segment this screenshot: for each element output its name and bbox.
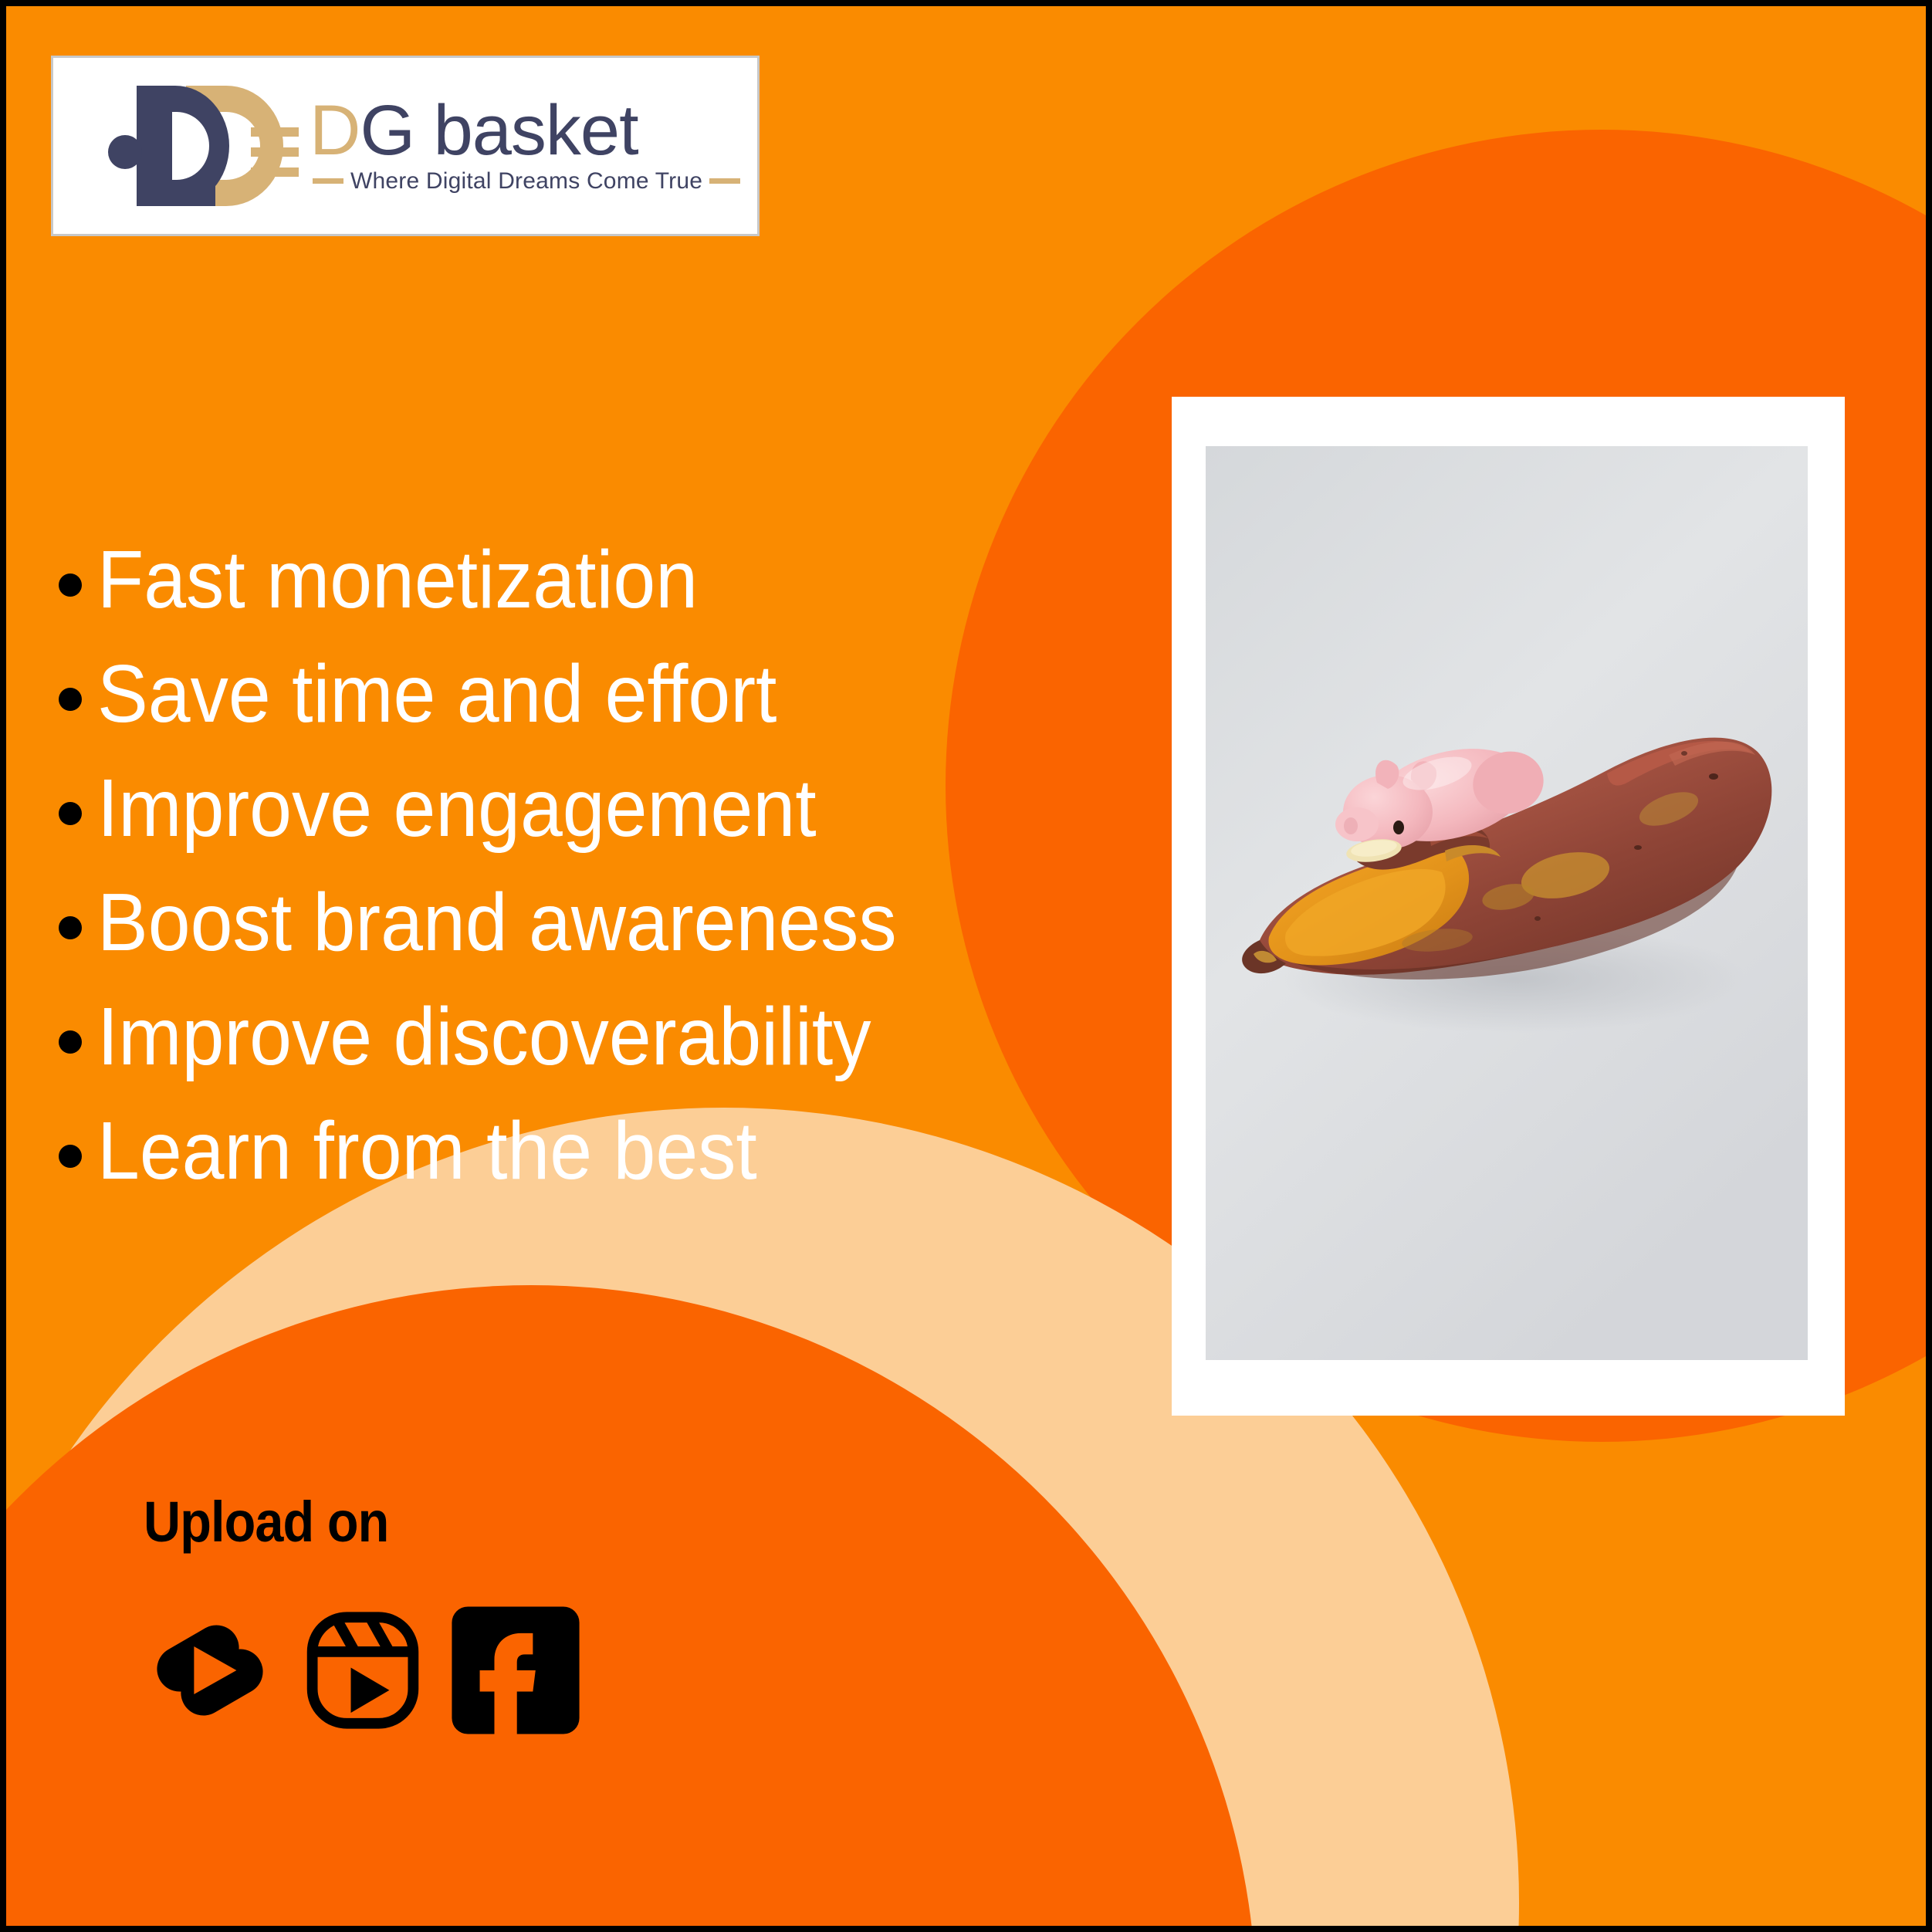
upload-on-label: Upload on bbox=[144, 1489, 538, 1555]
youtube-shorts-icon[interactable] bbox=[144, 1604, 276, 1737]
benefit-label: Improve discoverability bbox=[97, 982, 871, 1091]
logo-wordmark-d: D bbox=[310, 91, 360, 170]
logo-tagline: Where Digital Dreams Come True bbox=[350, 168, 702, 195]
bullet-dot-icon bbox=[59, 916, 82, 939]
logo-tagline-row: Where Digital Dreams Come True bbox=[310, 168, 740, 195]
bullet-dot-icon bbox=[59, 574, 82, 597]
benefit-label: Improve engagement bbox=[97, 753, 817, 863]
list-item: Improve engagement bbox=[59, 753, 1186, 863]
bullet-dot-icon bbox=[59, 1030, 82, 1054]
benefits-list: Fast monetization Save time and effort I… bbox=[59, 525, 1186, 1210]
facebook-icon[interactable] bbox=[449, 1604, 582, 1737]
promo-poster: DG basket Where Digital Dreams Come True… bbox=[0, 0, 1932, 1932]
bullet-dot-icon bbox=[59, 688, 82, 711]
product-photo bbox=[1206, 446, 1808, 1360]
upload-section: Upload on bbox=[144, 1489, 582, 1737]
list-item: Fast monetization bbox=[59, 525, 1186, 634]
bullet-dot-icon bbox=[59, 1145, 82, 1168]
logo-text: DG basket Where Digital Dreams Come True bbox=[310, 97, 740, 194]
benefit-label: Boost brand awareness bbox=[97, 868, 897, 977]
product-photo-frame bbox=[1172, 397, 1845, 1416]
logo-wordmark-rest: G basket bbox=[360, 91, 638, 170]
list-item: Save time and effort bbox=[59, 639, 1186, 749]
logo-wordmark: DG basket bbox=[310, 97, 740, 164]
bullet-dot-icon bbox=[59, 802, 82, 825]
dg-monogram-icon bbox=[96, 81, 299, 211]
tagline-dash-right-icon bbox=[709, 178, 740, 184]
list-item: Improve discoverability bbox=[59, 982, 1186, 1091]
benefit-label: Save time and effort bbox=[97, 639, 777, 749]
benefit-label: Learn from the best bbox=[97, 1096, 757, 1206]
instagram-reels-icon[interactable] bbox=[296, 1604, 429, 1737]
list-item: Boost brand awareness bbox=[59, 868, 1186, 977]
tagline-dash-left-icon bbox=[313, 178, 343, 184]
list-item: Learn from the best bbox=[59, 1096, 1186, 1206]
social-icons-row bbox=[144, 1604, 582, 1737]
brand-logo: DG basket Where Digital Dreams Come True bbox=[51, 56, 760, 236]
benefit-label: Fast monetization bbox=[97, 525, 698, 634]
